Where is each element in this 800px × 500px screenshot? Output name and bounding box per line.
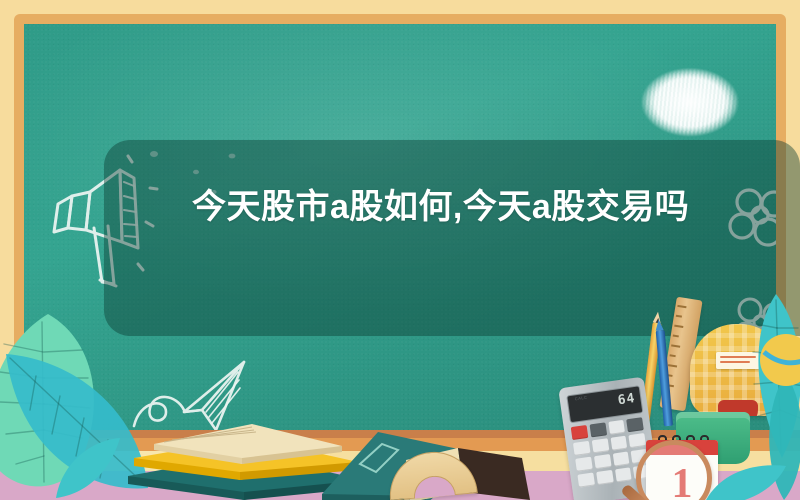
calculator-display-value: 64 <box>617 391 637 408</box>
calculator-brand: CALC <box>574 395 587 402</box>
cover-image: 今天股市a股如何,今天a股交易吗 <box>0 0 800 500</box>
globe-shape <box>760 330 800 395</box>
palm-leaf-small <box>48 432 128 500</box>
page-title: 今天股市a股如何,今天a股交易吗 <box>192 182 712 232</box>
leaf-bottom-right <box>700 460 790 500</box>
